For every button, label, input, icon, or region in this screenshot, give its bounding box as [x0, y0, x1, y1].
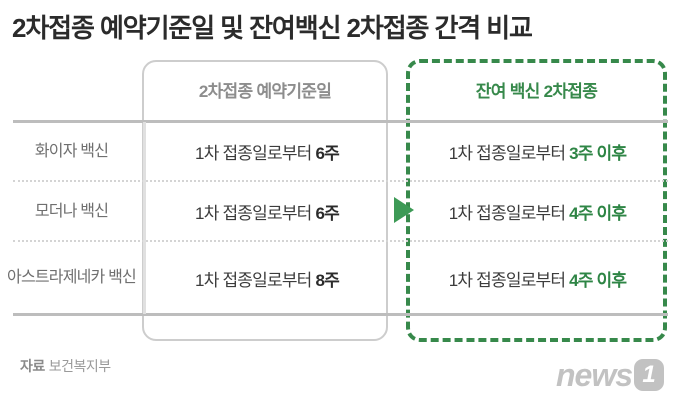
vaccine-name-cell: 아스트라제네카 백신	[0, 243, 143, 313]
vaccine-name-label: 아스트라제네카 백신	[7, 267, 136, 289]
source-value: 보건복지부	[49, 358, 111, 374]
page-title: 2차접종 예약기준일 및 잔여백신 2차접종 간격 비교	[12, 8, 672, 45]
reservation-interval-text: 1차 접종일로부터 6주	[195, 139, 339, 164]
row-separator-line-1	[13, 180, 668, 182]
table-row: 아스트라제네카 백신 1차 접종일로부터 8주 1차 접종일로부터 4주 이후	[0, 243, 680, 313]
reservation-interval-cell: 1차 접종일로부터 6주	[146, 183, 388, 240]
leftover-interval-text: 1차 접종일로부터 3주 이후	[449, 139, 627, 164]
reservation-interval-cell: 1차 접종일로부터 6주	[146, 123, 388, 180]
leftover-interval-text: 1차 접종일로부터 4주 이후	[449, 199, 627, 224]
source-label: 자료	[20, 358, 45, 374]
column-header-leftover: 잔여 백신 2차접종	[406, 78, 667, 106]
reservation-interval-text: 1차 접종일로부터 8주	[195, 266, 339, 291]
vaccine-name-cell: 화이자 백신	[0, 123, 143, 180]
leftover-interval-cell: 1차 접종일로부터 4주 이후	[410, 183, 665, 240]
leftover-interval-text: 1차 접종일로부터 4주 이후	[449, 266, 627, 291]
source-note: 자료보건복지부	[20, 356, 111, 376]
reservation-interval-text: 1차 접종일로부터 6주	[195, 199, 339, 224]
vaccine-name-label: 모더나 백신	[35, 201, 108, 223]
reservation-interval-cell: 1차 접종일로부터 8주	[146, 243, 388, 313]
leftover-interval-cell: 1차 접종일로부터 3주 이후	[410, 123, 665, 180]
vaccine-name-label: 화이자 백신	[35, 141, 108, 163]
table-bottom-line	[13, 313, 668, 316]
play-triangle-icon	[394, 197, 414, 223]
column-header-reservation: 2차접종 예약기준일	[142, 78, 388, 106]
table-row: 모더나 백신 1차 접종일로부터 6주 1차 접종일로부터 4주 이후	[0, 183, 680, 240]
row-separator-line-2	[13, 240, 668, 242]
news1-logo: news 1	[556, 358, 664, 392]
logo-wordmark: news	[556, 359, 632, 391]
leftover-interval-cell: 1차 접종일로부터 4주 이후	[410, 243, 665, 313]
vaccine-name-cell: 모더나 백신	[0, 183, 143, 240]
logo-badge-icon: 1	[634, 359, 664, 391]
table-row: 화이자 백신 1차 접종일로부터 6주 1차 접종일로부터 3주 이후	[0, 123, 680, 180]
